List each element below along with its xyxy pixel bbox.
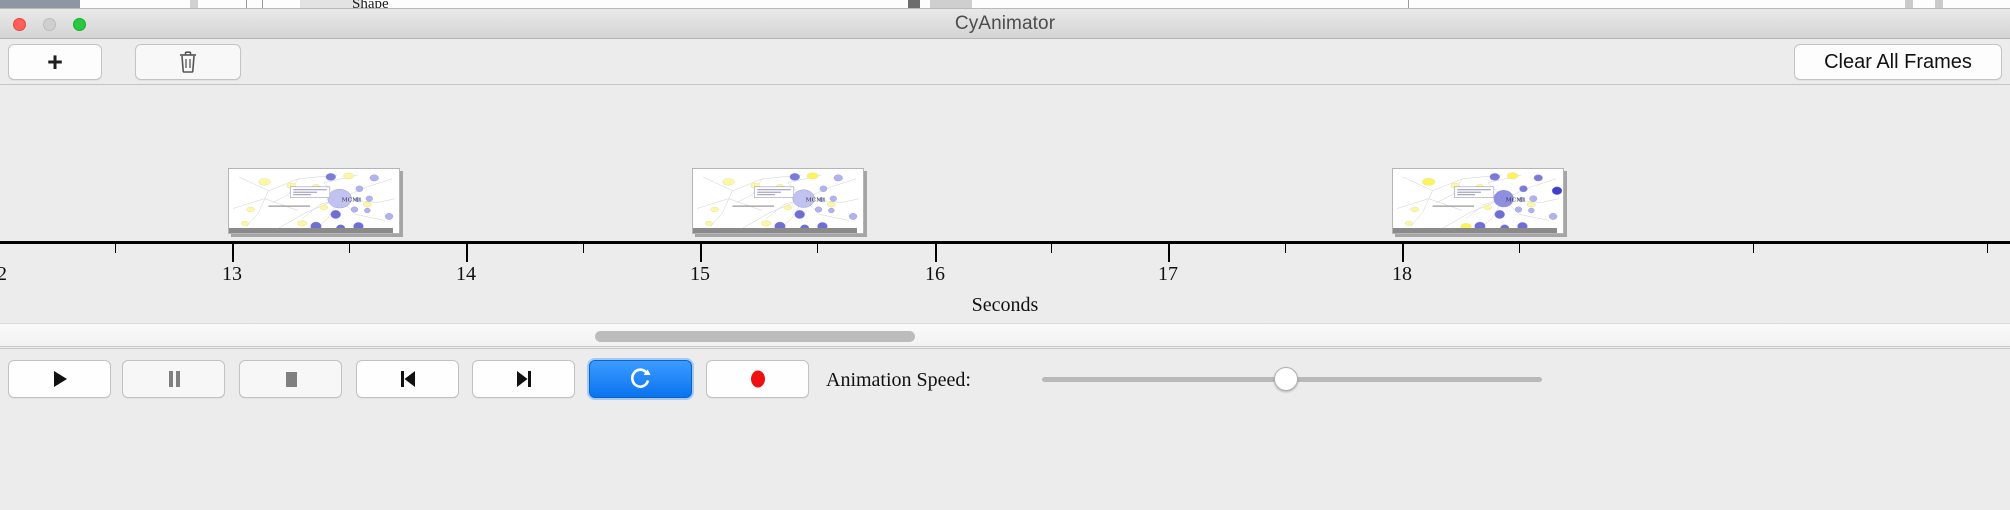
add-frame-button[interactable]: + xyxy=(8,44,102,80)
clear-all-frames-label: Clear All Frames xyxy=(1824,51,1972,74)
playback-controls: Animation Speed: xyxy=(0,348,2010,410)
keyframe-thumbnail[interactable]: MCM1 xyxy=(1392,168,1564,234)
play-icon xyxy=(51,369,69,389)
cyanimator-window: Shape CyAnimator + Clear All Frames xyxy=(0,0,2010,510)
record-button[interactable] xyxy=(706,360,809,398)
axis-minor-tick xyxy=(349,244,350,253)
pause-icon xyxy=(165,369,183,389)
host-app-label: Shape xyxy=(352,0,389,9)
axis-major-tick xyxy=(466,244,468,262)
axis-major-tick xyxy=(232,244,234,262)
skip-forward-icon xyxy=(514,369,534,389)
frame-base-shadow xyxy=(229,228,393,233)
trash-icon xyxy=(177,50,199,74)
axis-line xyxy=(0,241,2010,244)
axis-tick-label: 13 xyxy=(222,263,242,286)
axis-minor-tick xyxy=(1519,244,1520,253)
plus-icon: + xyxy=(47,49,63,76)
frame-toolbar: + Clear All Frames xyxy=(0,40,2010,85)
axis-minor-tick xyxy=(1051,244,1052,253)
axis-tick-label: 15 xyxy=(690,263,710,286)
axis-minor-tick xyxy=(583,244,584,253)
svg-text:MCM1: MCM1 xyxy=(342,198,362,204)
loop-button[interactable] xyxy=(589,360,692,398)
skip-to-start-button[interactable] xyxy=(356,360,459,398)
svg-text:MCM1: MCM1 xyxy=(806,198,826,204)
axis-minor-tick xyxy=(817,244,818,253)
axis-tick-label: 16 xyxy=(925,263,945,286)
host-app-background-strip: Shape xyxy=(0,0,2010,9)
record-icon xyxy=(748,368,768,390)
network-thumbnail-graphic: MCM1 xyxy=(229,169,399,234)
delete-frame-button[interactable] xyxy=(135,44,241,80)
clear-all-frames-button[interactable]: Clear All Frames xyxy=(1794,44,2002,80)
axis-minor-tick xyxy=(1753,244,1754,253)
loop-icon xyxy=(630,367,652,391)
play-button[interactable] xyxy=(8,360,111,398)
animation-speed-label: Animation Speed: xyxy=(826,369,971,392)
stop-button[interactable] xyxy=(239,360,342,398)
time-axis[interactable]: 2 13 14 15 16 17 18 Seconds xyxy=(0,241,2010,323)
network-thumbnail-graphic: MCM1 xyxy=(1393,169,1563,234)
axis-tick-label: 14 xyxy=(456,263,476,286)
window-title: CyAnimator xyxy=(0,13,2010,35)
network-thumbnail-graphic: MCM1 xyxy=(693,169,863,234)
axis-title: Seconds xyxy=(0,294,2010,317)
axis-minor-tick xyxy=(1987,244,1988,253)
title-bar: CyAnimator xyxy=(0,9,2010,39)
timeline-scrollbar-thumb[interactable] xyxy=(595,331,915,342)
axis-major-tick xyxy=(935,244,937,262)
frame-base-shadow xyxy=(693,228,857,233)
timeline-scrollbar[interactable] xyxy=(0,323,2010,347)
stop-icon xyxy=(282,369,300,389)
keyframe-thumbnail[interactable]: MCM1 xyxy=(228,168,400,234)
axis-tick-label: 17 xyxy=(1158,263,1178,286)
axis-tick-label: 18 xyxy=(1392,263,1412,286)
animation-speed-slider-thumb[interactable] xyxy=(1274,367,1298,391)
axis-tick-label: 2 xyxy=(0,263,7,286)
axis-major-tick xyxy=(700,244,702,262)
axis-major-tick xyxy=(1168,244,1170,262)
skip-back-icon xyxy=(398,369,418,389)
animation-speed-slider[interactable] xyxy=(1042,377,1542,382)
svg-text:MCM1: MCM1 xyxy=(1506,198,1526,204)
frame-base-shadow xyxy=(1393,228,1557,233)
keyframe-thumbnail[interactable]: MCM1 xyxy=(692,168,864,234)
skip-to-end-button[interactable] xyxy=(472,360,575,398)
pause-button[interactable] xyxy=(122,360,225,398)
axis-major-tick xyxy=(1402,244,1404,262)
axis-minor-tick xyxy=(1285,244,1286,253)
axis-minor-tick xyxy=(115,244,116,253)
